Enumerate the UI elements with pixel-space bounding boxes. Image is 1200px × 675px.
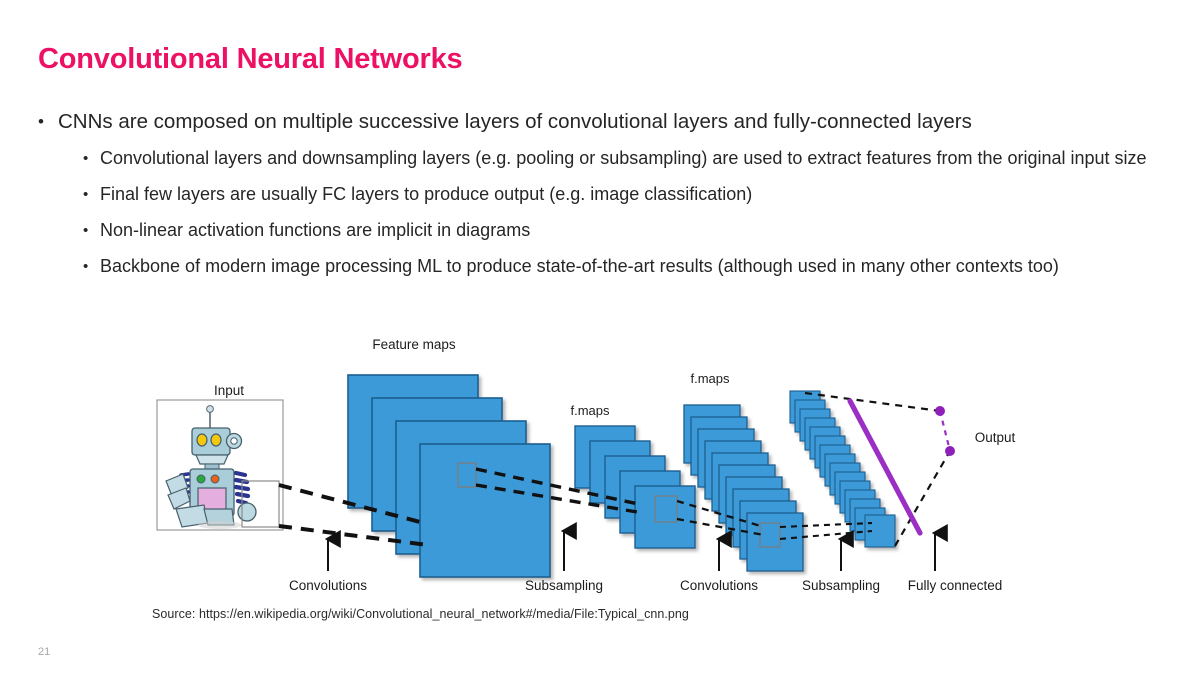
page-number: 21 [38, 646, 50, 658]
bullet-text: Backbone of modern image processing ML t… [100, 254, 1168, 279]
label-output: Output [975, 430, 1016, 445]
bullet-text: CNNs are composed on multiple successive… [58, 108, 1168, 136]
feature-maps-stack-2 [575, 426, 695, 548]
bullet-list: • CNNs are composed on multiple successi… [38, 108, 1168, 290]
bullet-level2-item: • Final few layers are usually FC layers… [38, 182, 1168, 207]
bullet-text: Final few layers are usually FC layers t… [100, 182, 1168, 207]
label-convolutions-1: Convolutions [289, 578, 367, 593]
label-convolutions-2: Convolutions [680, 578, 758, 593]
bullet-level2-item: • Backbone of modern image processing ML… [38, 254, 1168, 279]
label-subsampling-2: Subsampling [802, 578, 880, 593]
bullet-marker-icon: • [83, 254, 88, 279]
label-subsampling-1: Subsampling [525, 578, 603, 593]
label-feature-maps: Feature maps [372, 337, 456, 352]
feature-maps-stack-3 [684, 405, 803, 571]
label-f-maps-1: f.maps [570, 403, 610, 418]
feature-maps-stack-4 [790, 391, 895, 547]
label-f-maps-2: f.maps [690, 371, 730, 386]
bullet-marker-icon: • [83, 182, 88, 207]
bullet-text: Non-linear activation functions are impl… [100, 218, 1168, 243]
bullet-text: Convolutional layers and downsampling la… [100, 146, 1168, 171]
label-input: Input [214, 383, 244, 398]
page-title: Convolutional Neural Networks [38, 43, 462, 76]
slide-canvas: Convolutional Neural Networks • CNNs are… [0, 0, 1200, 675]
input-image-panel [157, 400, 283, 530]
cnn-architecture-diagram: Input Feature maps f.maps f.maps Output … [150, 333, 1040, 603]
output-node-top [935, 406, 945, 416]
source-caption: Source: https://en.wikipedia.org/wiki/Co… [152, 607, 689, 621]
bullet-level2-item: • Convolutional layers and downsampling … [38, 146, 1168, 171]
bullet-marker-icon: • [38, 108, 44, 136]
output-node-bottom [945, 446, 955, 456]
label-fully-connected: Fully connected [908, 578, 1003, 593]
bullet-marker-icon: • [83, 146, 88, 171]
feature-maps-stack-1 [348, 375, 550, 577]
bullet-level2-item: • Non-linear activation functions are im… [38, 218, 1168, 243]
bullet-level1-item: • CNNs are composed on multiple successi… [38, 108, 1168, 136]
bullet-marker-icon: • [83, 218, 88, 243]
